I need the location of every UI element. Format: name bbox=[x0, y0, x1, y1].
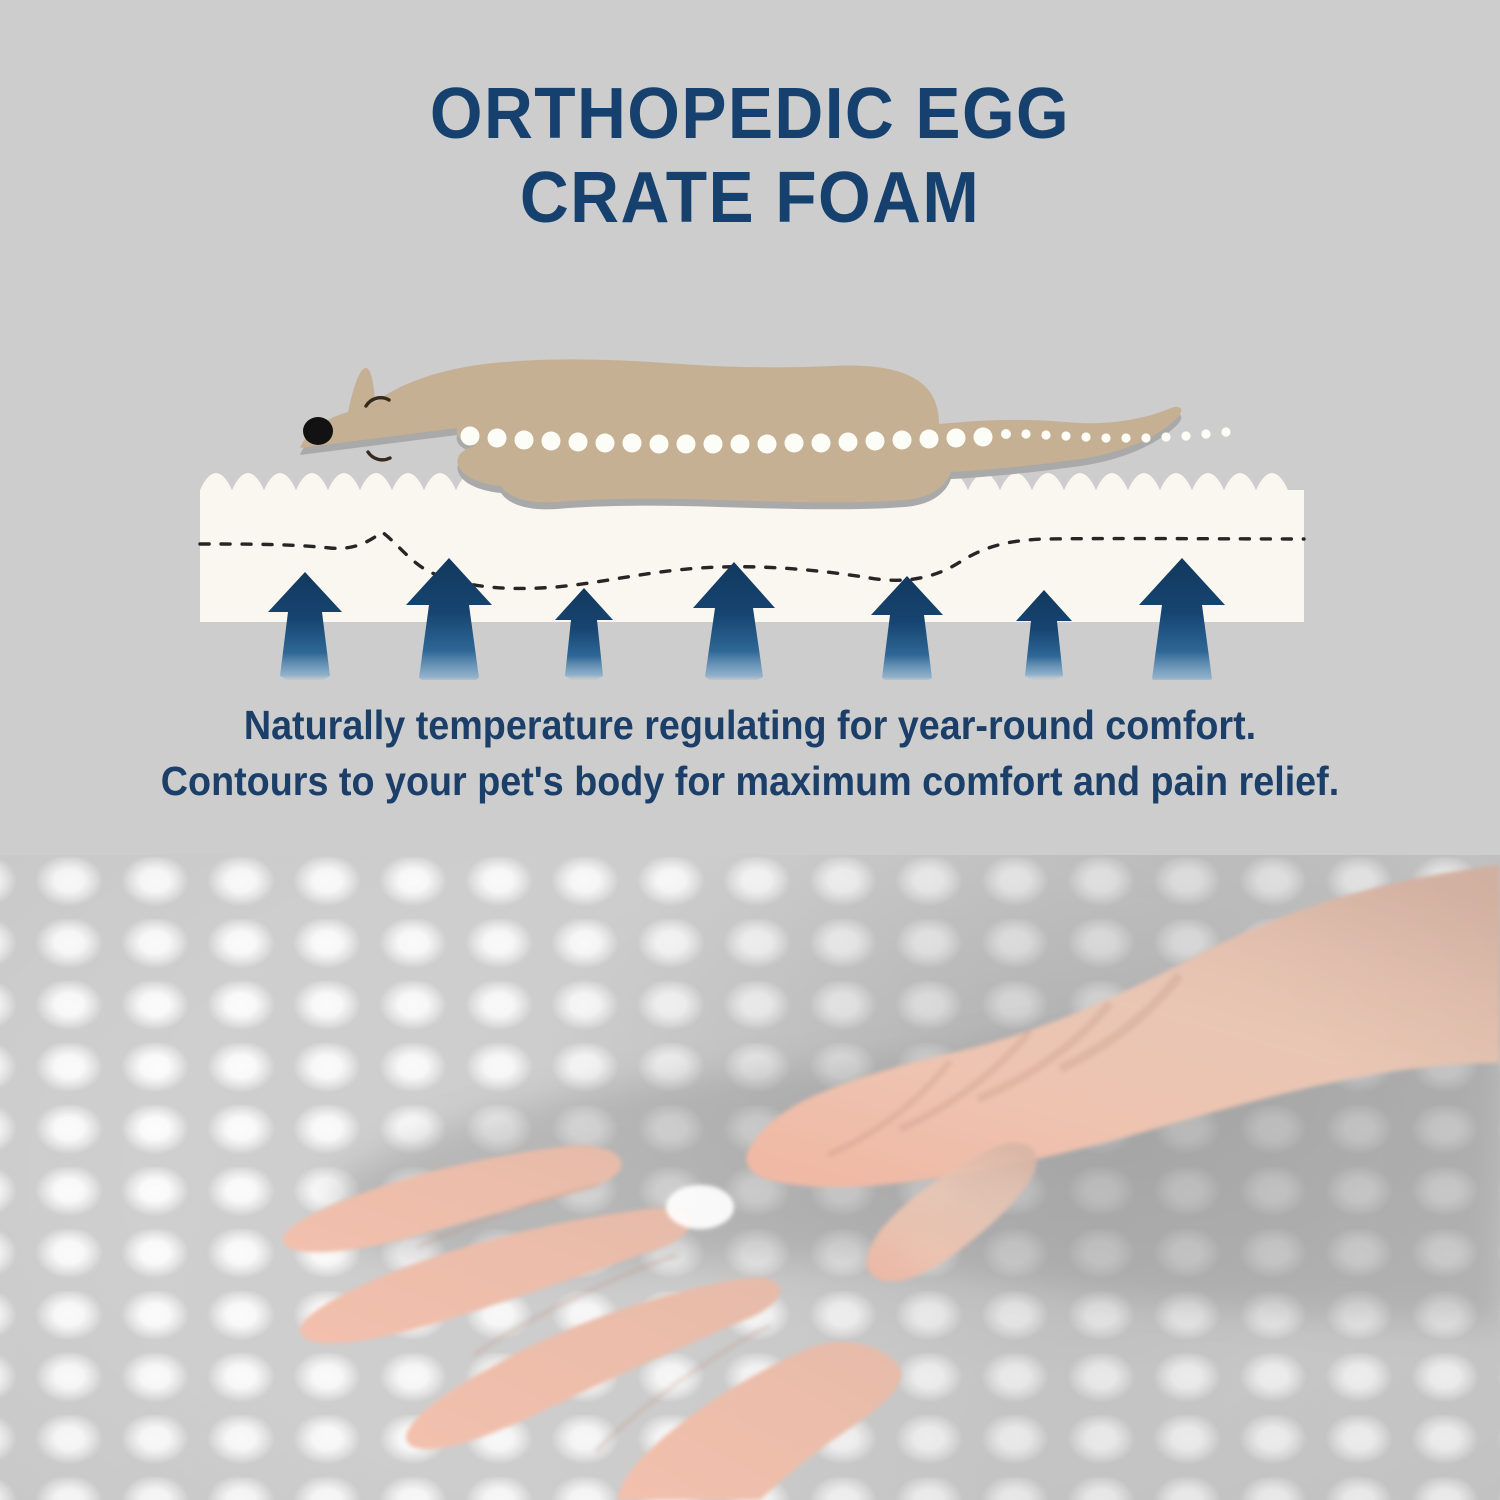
product-infographic: ORTHOPEDIC EGG CRATE FOAM bbox=[0, 0, 1500, 1500]
diagram-svg bbox=[0, 300, 1500, 680]
page-title: ORTHOPEDIC EGG CRATE FOAM bbox=[45, 72, 1455, 240]
foam-peak-highlight bbox=[666, 1185, 734, 1229]
product-photo bbox=[0, 855, 1500, 1500]
illustration-diagram bbox=[0, 300, 1500, 680]
info-panel: ORTHOPEDIC EGG CRATE FOAM bbox=[0, 0, 1500, 855]
caption-line-2: Contours to your pet's body for maximum … bbox=[60, 753, 1440, 809]
dog-mouth-icon bbox=[368, 452, 390, 460]
caption-block: Naturally temperature regulating for yea… bbox=[60, 697, 1440, 809]
dog-nose-icon bbox=[303, 417, 333, 445]
hand-illustration bbox=[0, 855, 1500, 1500]
caption-line-1: Naturally temperature regulating for yea… bbox=[60, 697, 1440, 753]
